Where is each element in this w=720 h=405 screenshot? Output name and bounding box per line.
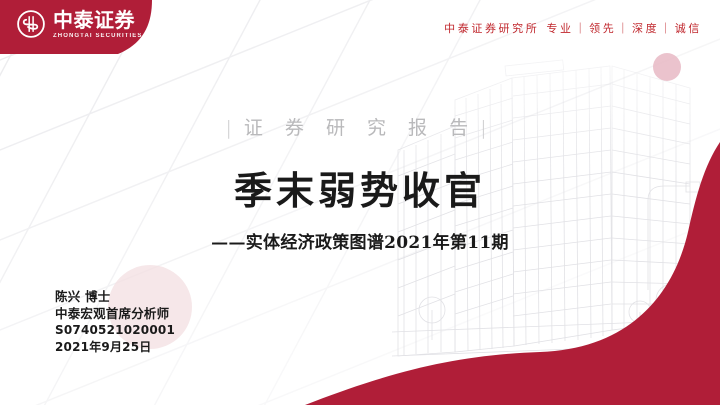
- author-license-number: S0740521020001: [55, 322, 175, 339]
- zhongtai-circle-emblem-icon: [16, 9, 46, 39]
- kicker-bar-left: |: [221, 117, 243, 139]
- header-slogan: 中泰证券研究所 专业｜领先｜深度｜诚信: [444, 20, 702, 36]
- author-info-block: 陈兴 博士 中泰宏观首席分析师 S0740521020001 2021年9月25…: [55, 288, 175, 356]
- report-headline: 季末弱势收官: [0, 160, 720, 215]
- report-cover-slide: 中泰证券 ZHONGTAI SECURITIES 中泰证券研究所 专业｜领先｜深…: [0, 0, 720, 405]
- report-date: 2021年9月25日: [55, 339, 175, 356]
- kicker-bar-right: |: [476, 117, 498, 139]
- slogan-separator-1: ｜: [574, 22, 590, 35]
- slogan-separator-2: ｜: [616, 22, 632, 35]
- value-leading: 领先: [589, 22, 616, 35]
- author-name: 陈兴 博士: [55, 288, 175, 305]
- value-professional: 专业: [546, 22, 573, 35]
- brand-logo[interactable]: 中泰证券 ZHONGTAI SECURITIES: [16, 9, 142, 39]
- brand-name-cn: 中泰证券: [53, 10, 142, 30]
- value-depth: 深度: [632, 22, 659, 35]
- author-title: 中泰宏观首席分析师: [55, 305, 175, 322]
- report-kicker: |证 券 研 究 报 告|: [0, 113, 720, 140]
- value-integrity: 诚信: [675, 22, 702, 35]
- kicker-text: 证 券 研 究 报 告: [244, 117, 476, 139]
- institute-name: 中泰证券研究所: [444, 22, 539, 35]
- report-subtitle: ——实体经济政策图谱2021年第11期: [0, 228, 720, 253]
- slogan-separator-3: ｜: [659, 22, 675, 35]
- brand-name-en: ZHONGTAI SECURITIES: [53, 33, 142, 39]
